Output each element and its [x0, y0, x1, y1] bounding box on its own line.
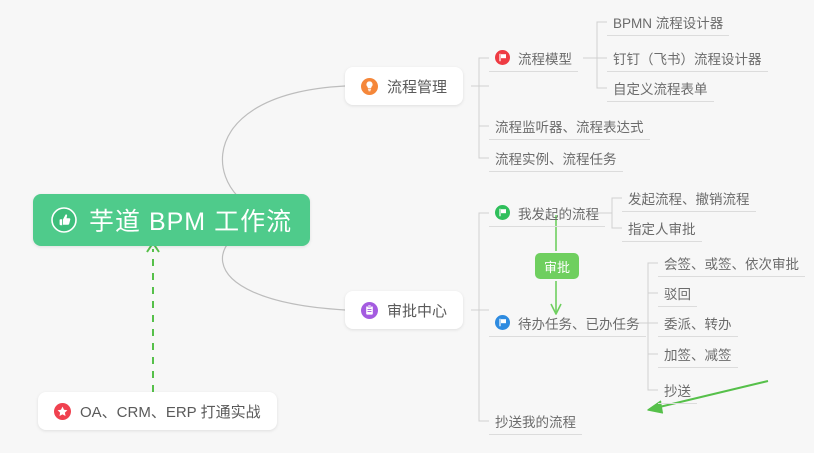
node-carbon-copy[interactable]: 抄送 — [658, 376, 697, 404]
flag-icon — [495, 315, 510, 330]
edge-ac-to-cc — [479, 310, 489, 421]
node-label: 流程模型 — [518, 48, 572, 68]
node-delegate-transfer[interactable]: 委派、转办 — [658, 309, 738, 337]
root-node[interactable]: 芋道 BPM 工作流 — [33, 194, 310, 246]
thumbs-up-icon — [51, 207, 77, 233]
node-label: BPMN 流程设计器 — [613, 12, 723, 32]
node-process-listener-expression[interactable]: 流程监听器、流程表达式 — [489, 112, 650, 140]
node-oa-crm-erp[interactable]: OA、CRM、ERP 打通实战 — [38, 392, 277, 430]
edge-model-to-bpmn — [583, 22, 607, 58]
star-icon — [54, 403, 71, 420]
edge-model-to-custom-form — [597, 58, 607, 88]
flag-icon — [495, 205, 510, 220]
node-label: 发起流程、撤销流程 — [628, 188, 750, 208]
node-process-model[interactable]: 流程模型 — [489, 44, 578, 72]
node-dingtalk-feishu-designer[interactable]: 钉钉（飞书）流程设计器 — [607, 44, 768, 72]
annotation-label: 审批 — [544, 257, 570, 276]
edge-todo-to-reject — [648, 293, 658, 323]
node-custom-process-form[interactable]: 自定义流程表单 — [607, 74, 714, 102]
node-label: 指定人审批 — [628, 218, 696, 238]
branch-process-management[interactable]: 流程管理 — [345, 67, 463, 105]
clipboard-icon — [361, 302, 378, 319]
flag-icon — [495, 50, 510, 65]
node-label: 抄送我的流程 — [495, 411, 576, 431]
node-reject[interactable]: 驳回 — [658, 279, 697, 307]
node-bpmn-designer[interactable]: BPMN 流程设计器 — [607, 8, 729, 36]
node-designated-approver[interactable]: 指定人审批 — [622, 214, 702, 242]
edge-pm-to-process-model — [471, 58, 489, 86]
edge-pm-to-listener — [479, 86, 489, 126]
node-label: OA、CRM、ERP 打通实战 — [80, 401, 261, 422]
node-label: 钉钉（飞书）流程设计器 — [613, 48, 762, 68]
edge-todo-to-cc — [648, 323, 658, 390]
lightbulb-icon — [361, 78, 378, 95]
branch-approval-center[interactable]: 审批中心 — [345, 291, 463, 329]
node-label: 会签、或签、依次审批 — [664, 253, 799, 273]
edge-pm-to-instance — [479, 86, 489, 158]
node-label: 流程监听器、流程表达式 — [495, 116, 644, 136]
node-label: 委派、转办 — [664, 313, 732, 333]
node-countersign-orsign-sequential[interactable]: 会签、或签、依次审批 — [658, 249, 805, 277]
node-add-remove-sign[interactable]: 加签、减签 — [658, 340, 738, 368]
node-todo-done-tasks[interactable]: 待办任务、已办任务 — [489, 309, 646, 337]
node-my-initiated-process[interactable]: 我发起的流程 — [489, 199, 605, 227]
node-cc-to-me-process[interactable]: 抄送我的流程 — [489, 407, 582, 435]
branch-label: 流程管理 — [387, 76, 447, 97]
node-label: 流程实例、流程任务 — [495, 148, 617, 168]
node-label: 驳回 — [664, 283, 691, 303]
root-label: 芋道 BPM 工作流 — [89, 202, 292, 238]
edge-ac-to-my-process — [471, 213, 489, 310]
node-label: 待办任务、已办任务 — [518, 313, 640, 333]
node-process-instance-task[interactable]: 流程实例、流程任务 — [489, 144, 623, 172]
edge-mine-to-designated — [612, 213, 622, 228]
branch-label: 审批中心 — [387, 300, 447, 321]
node-label: 加签、减签 — [664, 344, 732, 364]
annotation-approval-box: 审批 — [535, 253, 579, 279]
node-label: 我发起的流程 — [518, 203, 599, 223]
mindmap-canvas: 芋道 BPM 工作流 流程管理 流程模型 BPMN 流程设计器 钉钉（飞书）流程 — [0, 0, 814, 453]
edge-todo-to-addsign — [648, 323, 658, 354]
node-start-cancel-process[interactable]: 发起流程、撤销流程 — [622, 184, 756, 212]
node-label: 抄送 — [664, 380, 691, 400]
node-label: 自定义流程表单 — [613, 78, 708, 98]
